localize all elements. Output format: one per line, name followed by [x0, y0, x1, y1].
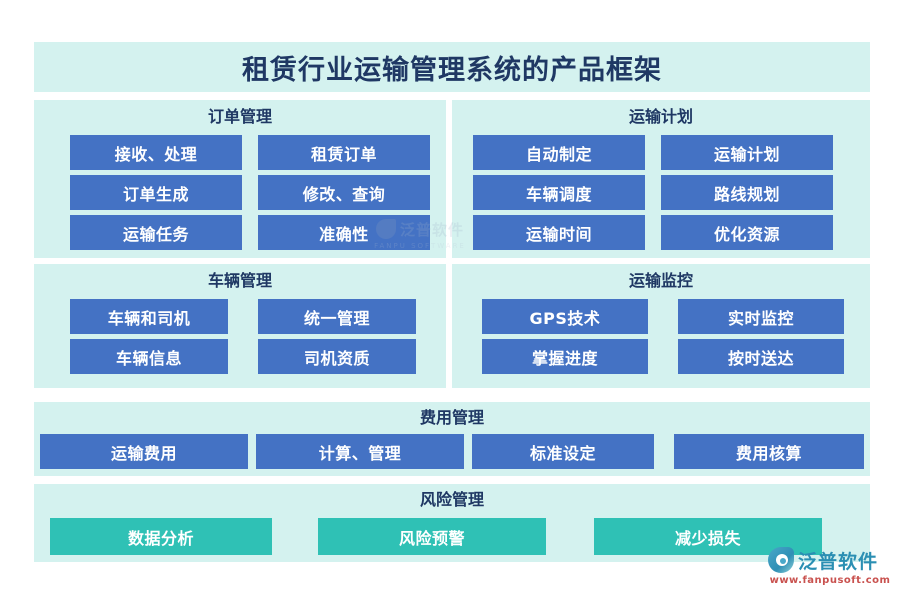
brand-name: 泛普软件 [798, 547, 878, 574]
section-panel-vehicle: 车辆管理 车辆和司机 统一管理 车辆信息 司机资质 [34, 264, 446, 388]
chip-monitor-2[interactable]: 掌握进度 [482, 339, 648, 374]
section-title-fee: 费用管理 [34, 410, 870, 426]
brand-url: www.fanpusoft.com [768, 575, 892, 586]
chip-vehicle-3[interactable]: 司机资质 [258, 339, 416, 374]
chip-plan-4[interactable]: 运输时间 [473, 215, 645, 250]
chip-plan-2[interactable]: 车辆调度 [473, 175, 645, 210]
chip-order-4[interactable]: 运输任务 [70, 215, 242, 250]
chip-vehicle-0[interactable]: 车辆和司机 [70, 299, 228, 334]
chip-vehicle-1[interactable]: 统一管理 [258, 299, 416, 334]
chip-plan-0[interactable]: 自动制定 [473, 135, 645, 170]
chip-plan-1[interactable]: 运输计划 [661, 135, 833, 170]
chip-monitor-3[interactable]: 按时送达 [678, 339, 844, 374]
chip-fee-1[interactable]: 计算、管理 [256, 434, 464, 469]
section-title-monitor: 运输监控 [452, 273, 870, 289]
chip-fee-2[interactable]: 标准设定 [472, 434, 654, 469]
section-title-plan: 运输计划 [452, 109, 870, 125]
chip-fee-0[interactable]: 运输费用 [40, 434, 248, 469]
brand-logo: 泛普软件 www.fanpusoft.com [768, 546, 892, 590]
chip-order-1[interactable]: 租赁订单 [258, 135, 430, 170]
chip-plan-3[interactable]: 路线规划 [661, 175, 833, 210]
chip-fee-3[interactable]: 费用核算 [674, 434, 864, 469]
section-title-vehicle: 车辆管理 [34, 273, 446, 289]
chip-vehicle-2[interactable]: 车辆信息 [70, 339, 228, 374]
chip-order-3[interactable]: 修改、查询 [258, 175, 430, 210]
section-panel-plan: 运输计划 自动制定 运输计划 车辆调度 路线规划 运输时间 优化资源 [452, 100, 870, 258]
chip-risk-0[interactable]: 数据分析 [50, 518, 272, 555]
section-panel-fee: 费用管理 运输费用 计算、管理 标准设定 费用核算 [34, 402, 870, 476]
chip-plan-5[interactable]: 优化资源 [661, 215, 833, 250]
section-panel-order: 订单管理 接收、处理 租赁订单 订单生成 修改、查询 运输任务 准确性 [34, 100, 446, 258]
section-panel-risk: 风险管理 数据分析 风险预警 减少损失 [34, 484, 870, 562]
section-title-order: 订单管理 [34, 109, 446, 125]
chip-risk-1[interactable]: 风险预警 [318, 518, 546, 555]
chip-monitor-0[interactable]: GPS技术 [482, 299, 648, 334]
section-panel-monitor: 运输监控 GPS技术 实时监控 掌握进度 按时送达 [452, 264, 870, 388]
chip-order-2[interactable]: 订单生成 [70, 175, 242, 210]
chip-monitor-1[interactable]: 实时监控 [678, 299, 844, 334]
chip-order-0[interactable]: 接收、处理 [70, 135, 242, 170]
page-title: 租赁行业运输管理系统的产品框架 [242, 48, 662, 87]
fanpu-logo-icon [768, 547, 794, 573]
diagram-title-banner: 租赁行业运输管理系统的产品框架 [34, 42, 870, 92]
chip-order-5[interactable]: 准确性 [258, 215, 430, 250]
section-title-risk: 风险管理 [34, 492, 870, 508]
diagram-canvas: 租赁行业运输管理系统的产品框架 订单管理 接收、处理 租赁订单 订单生成 修改、… [0, 0, 900, 600]
